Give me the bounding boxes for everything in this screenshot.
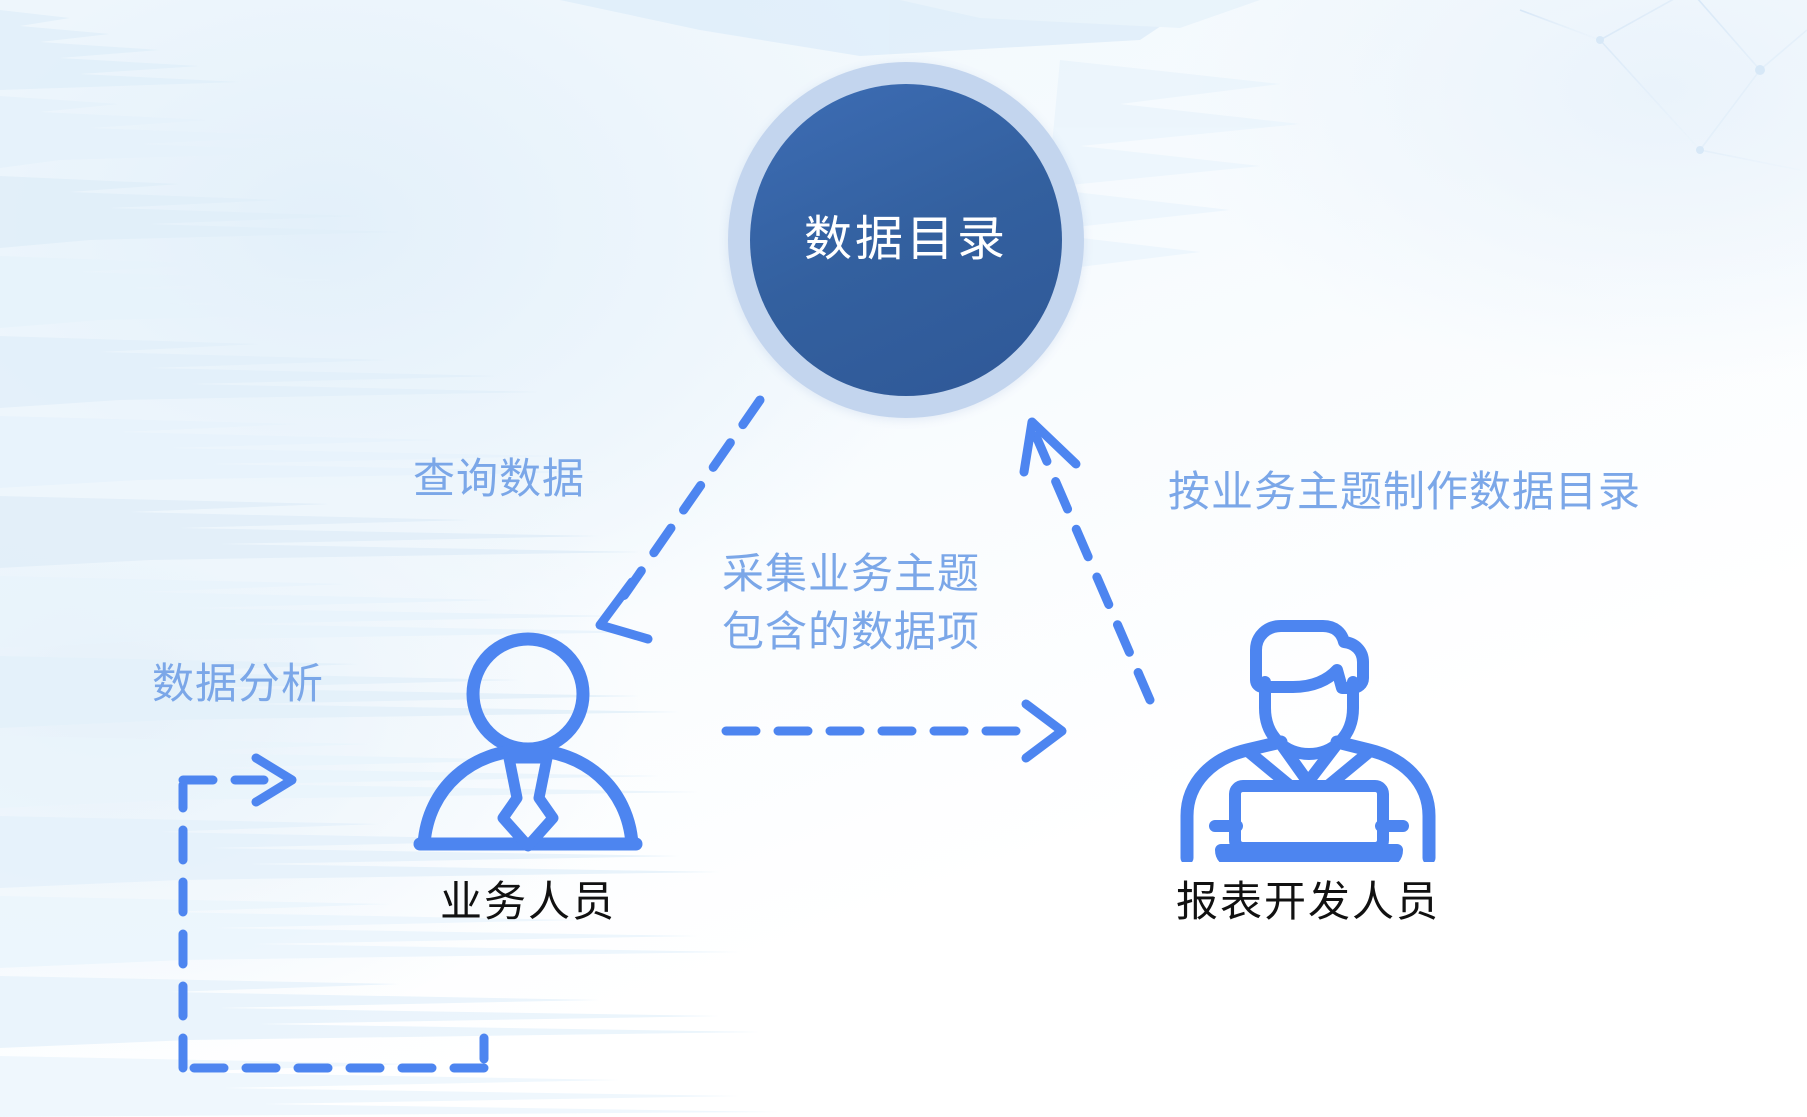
background-texture-bands [0,10,780,1117]
edge-label-collect-items-line1: 采集业务主题 [722,545,980,603]
diagram-canvas: 数据目录 查询数据 按业务主题制作数据目录 采集业务主题 包含的数据项 数据分析… [0,0,1807,1117]
actor-report-developer[interactable]: 报表开发人员 [1148,612,1468,929]
actor-business-person[interactable]: 业务人员 [378,632,678,929]
developer-laptop-icon [1177,612,1439,862]
edge-label-data-analysis: 数据分析 [152,655,324,713]
node-data-catalog-label: 数据目录 [804,216,1008,264]
node-data-catalog[interactable]: 数据目录 [728,62,1084,418]
edge-collect-items [726,704,1062,758]
edge-label-build-catalog: 按业务主题制作数据目录 [1168,463,1641,521]
actor-business-person-label: 业务人员 [440,868,616,929]
background-network-lines [1520,0,1807,170]
edge-build-catalog [1024,422,1150,700]
edge-label-collect-items: 采集业务主题 包含的数据项 [722,545,980,661]
edge-label-query-data: 查询数据 [413,450,585,508]
user-tie-icon [406,632,650,862]
edge-label-collect-items-line2: 包含的数据项 [722,603,980,661]
actor-report-developer-label: 报表开发人员 [1176,868,1440,929]
node-data-catalog-inner: 数据目录 [750,84,1062,396]
